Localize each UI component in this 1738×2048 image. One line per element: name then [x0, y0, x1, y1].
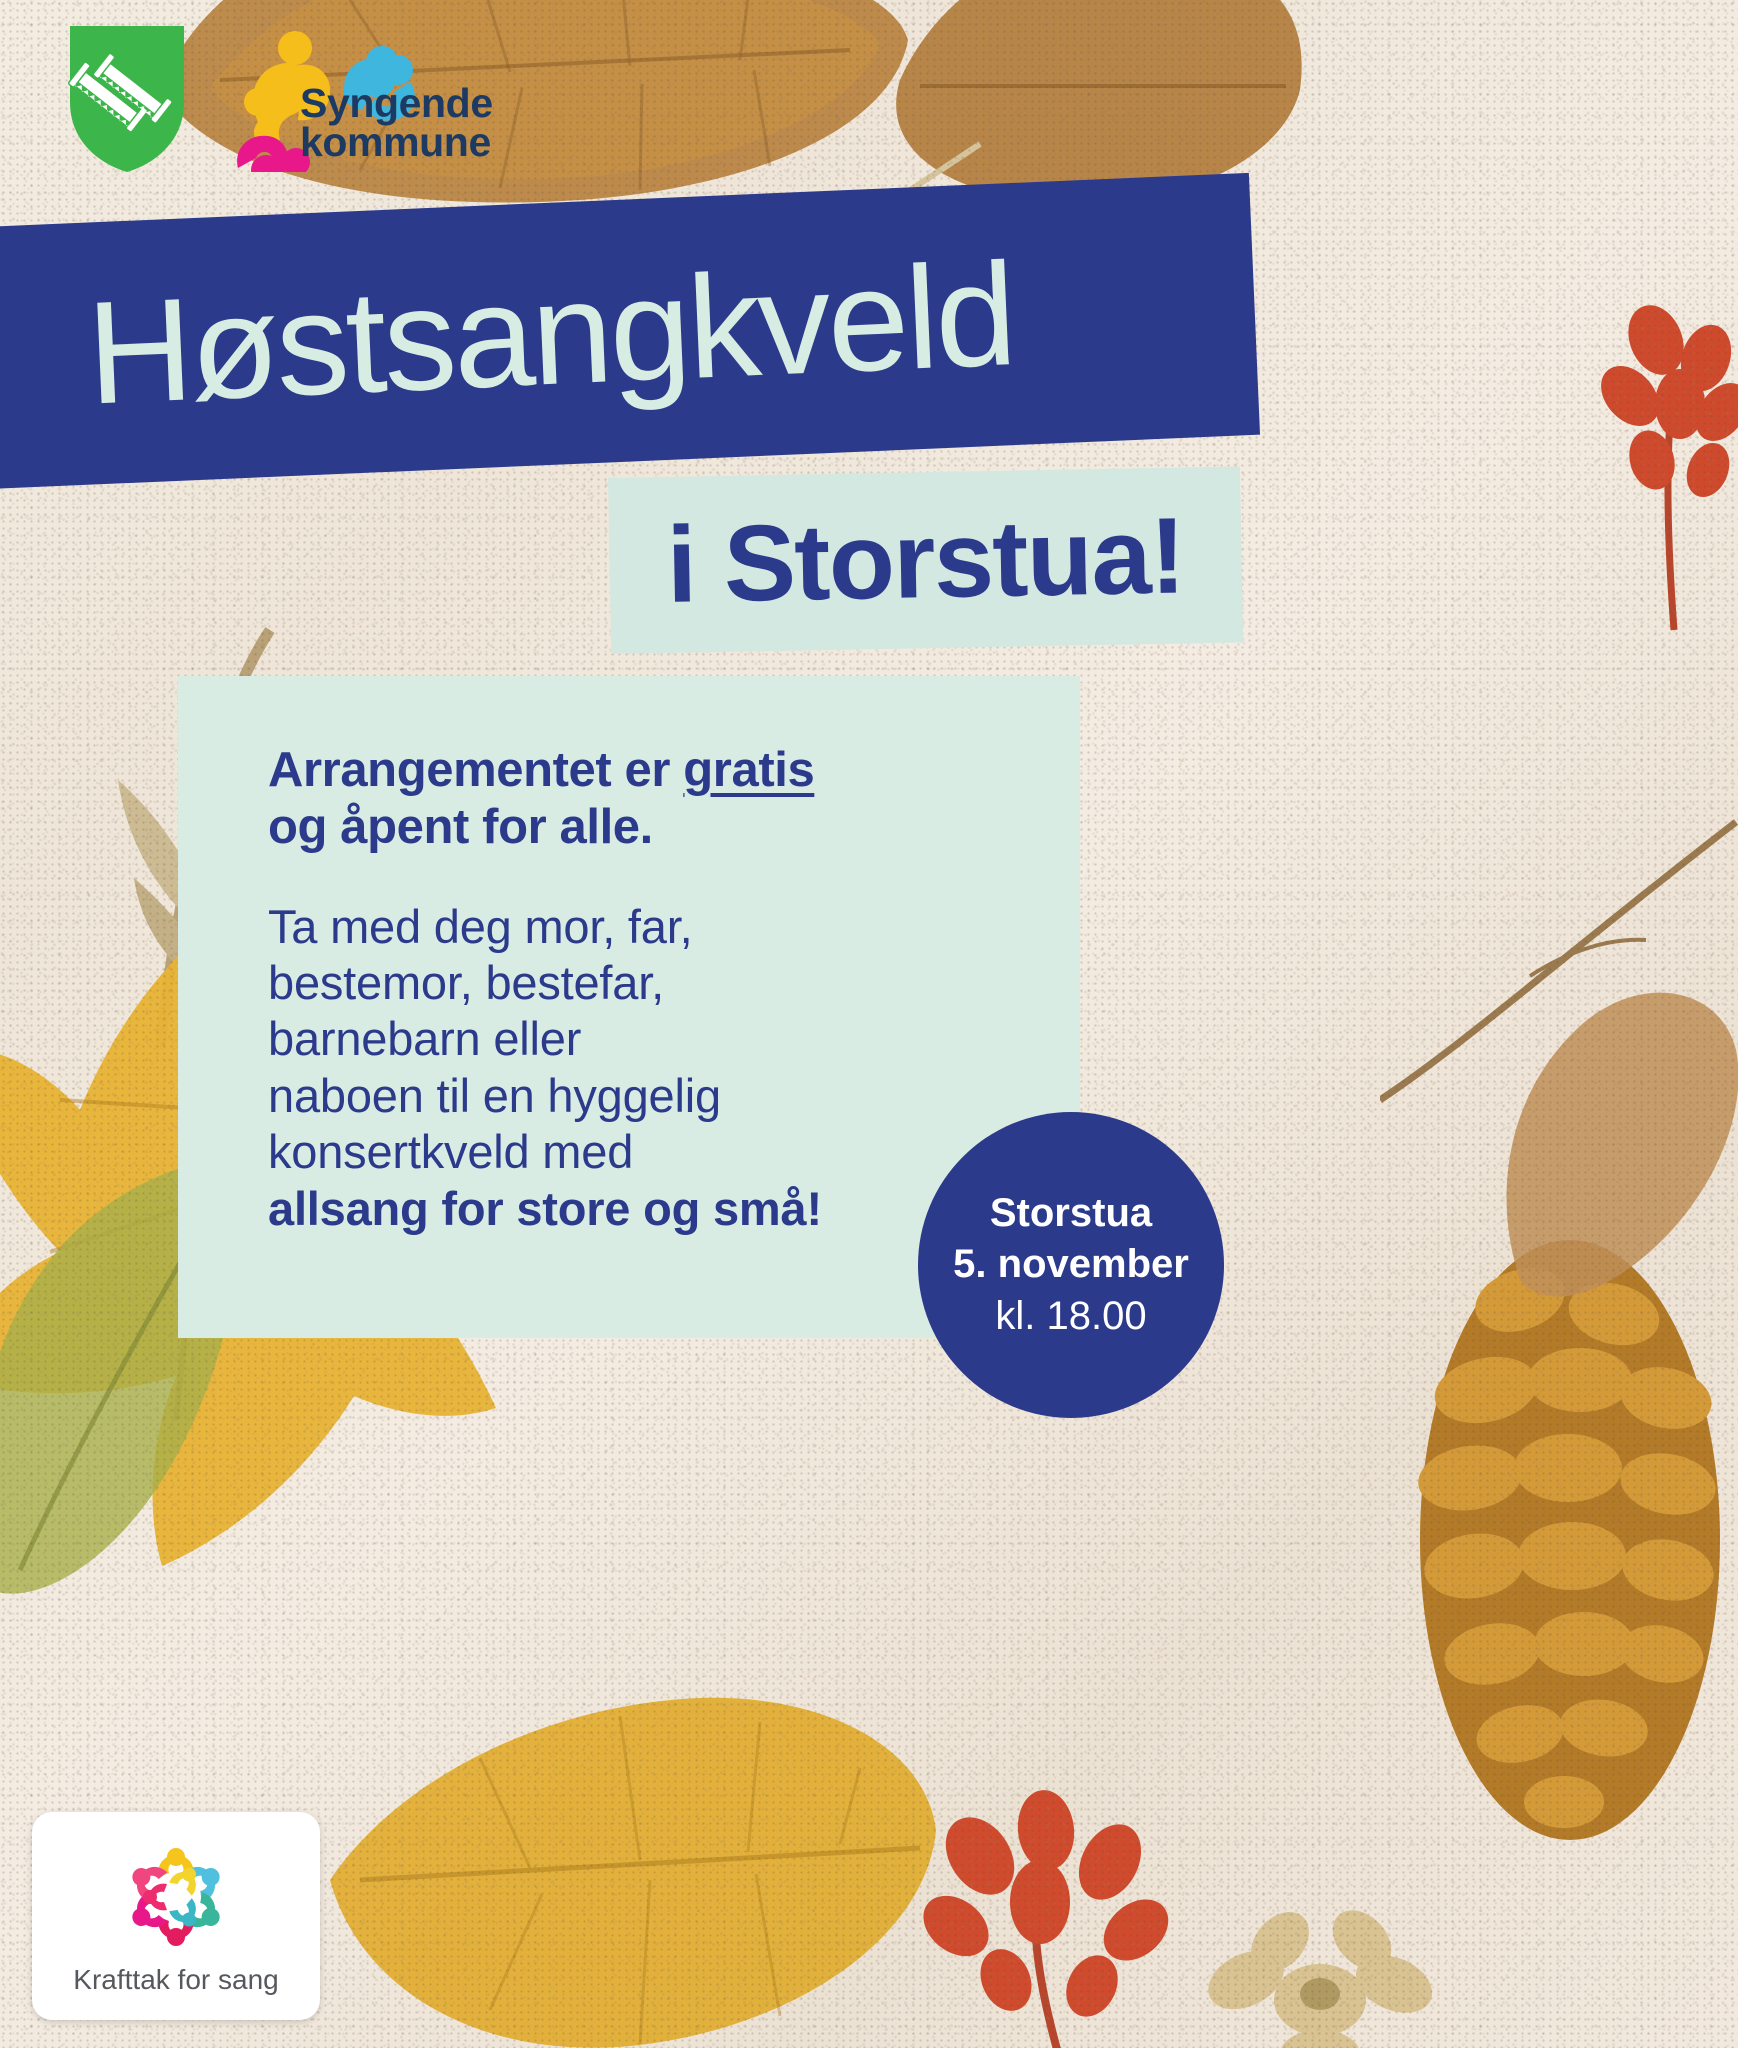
body-line-4: naboen til en hyggelig	[268, 1069, 721, 1122]
lead-underlined-word: gratis	[683, 743, 814, 797]
syngende-kommune-wordmark: Syngende kommune	[300, 84, 493, 163]
poster-subtitle-text: i Storstua!	[666, 501, 1185, 618]
krafttak-for-sang-logo-icon	[115, 1836, 237, 1958]
lead-line-2: og åpent for alle.	[268, 800, 653, 854]
body-bold-line: allsang for store og små!	[268, 1182, 822, 1235]
krafttak-for-sang-label: Krafttak for sang	[73, 1964, 278, 1996]
date-badge-time: kl. 18.00	[995, 1291, 1146, 1342]
body-line-1: Ta med deg mor, far,	[268, 900, 692, 953]
krafttak-for-sang-badge: Krafttak for sang	[32, 1812, 320, 2020]
date-badge-date: 5. november	[953, 1239, 1189, 1290]
poster-subtitle: i Storstua!	[608, 466, 1243, 654]
body-line-3: barnebarn eller	[268, 1012, 581, 1065]
date-badge: Storstua 5. november kl. 18.00	[918, 1112, 1224, 1418]
lead-paragraph: Arrangementet er gratis og åpent for all…	[268, 742, 1028, 857]
logo-line-1: Syngende	[300, 84, 493, 123]
lead-prefix: Arrangementet er	[268, 743, 683, 797]
date-badge-venue: Storstua	[990, 1188, 1152, 1239]
info-panel-content: Arrangementet er gratis og åpent for all…	[268, 742, 1028, 1237]
body-paragraph: Ta med deg mor, far, bestemor, bestefar,…	[268, 899, 868, 1237]
poster-title-text: Høstsangkveld	[84, 241, 1016, 426]
body-line-2: bestemor, bestefar,	[268, 956, 664, 1009]
body-line-5: konsertkveld med	[268, 1125, 633, 1178]
poster-title: Høstsangkveld	[0, 173, 1260, 490]
poster-canvas: . Syngende kommune Høstsangkveld i Stors…	[0, 0, 1738, 2048]
municipal-coat-of-arms-icon	[68, 24, 186, 174]
logo-line-2: kommune	[300, 123, 493, 162]
